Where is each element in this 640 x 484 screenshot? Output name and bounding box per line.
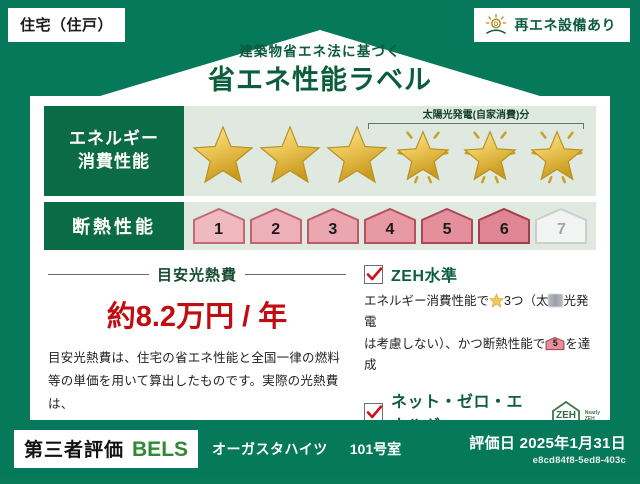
utility-cost-heading: 目安光熱費	[48, 264, 346, 285]
insulation-badge-7: 7	[533, 207, 589, 245]
zeh-section: ZEH水準 エネルギー消費性能で3つ（太光発電 は考慮しない）、かつ断熱性能で5…	[360, 256, 610, 420]
zeh-standard-text-b: 3つ（太	[504, 294, 548, 308]
energy-star-2	[259, 124, 321, 186]
star-icon	[489, 293, 504, 308]
utility-cost-heading-text: 目安光熱費	[157, 264, 237, 285]
insulation-badge-2-value: 2	[248, 207, 304, 245]
solar-bracket: 太陽光発電(自家消費)分	[362, 110, 590, 136]
insulation-badge-5: 5	[419, 207, 475, 245]
evaluation-info: 評価日 2025年1月31日 e8cd84f8-5ed8-403c	[469, 432, 626, 466]
zeh-standard-text-a: エネルギー消費性能で	[364, 294, 489, 308]
room-number: 101号室	[350, 439, 401, 459]
footer-bar: 第三者評価 BELS オーガスタハイツ 101号室 評価日 2025年1月31日…	[0, 420, 640, 478]
sun-icon: D	[484, 13, 508, 37]
renewable-equipment-label: 再エネ設備あり	[515, 15, 617, 35]
renewable-equipment-tag: D 再エネ設備あり	[474, 8, 631, 42]
energy-label-line1: エネルギー	[69, 128, 159, 151]
insulation-badges-area: 1 2 3 4 5	[184, 202, 596, 250]
zeh-standard-item: ZEH水準	[364, 262, 600, 286]
heading-rule-left	[48, 274, 149, 275]
solar-bracket-line	[368, 123, 584, 129]
zeh-standard-body: エネルギー消費性能で3つ（太光発電 は考慮しない）、かつ断熱性能で5を達成	[364, 291, 600, 376]
energy-performance-label: エネルギー 消費性能	[44, 106, 184, 196]
building-type-tag: 住宅（住戸）	[8, 8, 125, 42]
header-title: 省エネ性能ラベル	[0, 58, 640, 97]
insulation-badge-3: 3	[305, 207, 361, 245]
utility-cost-section: 目安光熱費 約8.2万円 / 年 目安光熱費は、住宅の省エネ性能と全国一律の燃料…	[30, 256, 360, 420]
evaluation-date: 評価日 2025年1月31日	[469, 432, 626, 453]
utility-cost-note-line1: 目安光熱費は、住宅の省エネ性能と全国一律の燃料	[48, 347, 346, 370]
header-subtitle: 建築物省エネ法に基づく	[0, 40, 640, 60]
insulation-badge-1: 1	[191, 207, 247, 245]
energy-label-line2: 消費性能	[78, 151, 150, 174]
utility-cost-note-line2: 等の単価を用いて算出したものです。実際の光熱費は、	[48, 370, 346, 416]
insulation-badge-6: 6	[476, 207, 532, 245]
energy-star-1	[192, 124, 254, 186]
svg-text:D: D	[493, 22, 498, 28]
insulation-badge-5-value: 5	[419, 207, 475, 245]
insulation-badge-2: 2	[248, 207, 304, 245]
label-body-card: エネルギー 消費性能 太陽光発電(自家消費)分	[30, 96, 610, 420]
lower-section: 目安光熱費 約8.2万円 / 年 目安光熱費は、住宅の省エネ性能と全国一律の燃料…	[30, 256, 610, 420]
energy-performance-row: エネルギー 消費性能 太陽光発電(自家消費)分	[44, 106, 596, 196]
inline-insulation-badge: 5	[545, 336, 565, 351]
bels-mark: BELS	[132, 438, 188, 462]
insulation-badge-4: 4	[362, 207, 418, 245]
check-icon	[364, 265, 383, 284]
bels-label: 第三者評価	[24, 435, 124, 462]
zeh-standard-title: ZEH水準	[391, 262, 458, 286]
evaluation-id: e8cd84f8-5ed8-403c	[469, 455, 626, 466]
heading-rule-right	[245, 274, 346, 275]
zeh-standard-text-d: は考慮しない）、かつ断熱性能で	[364, 337, 545, 351]
bels-badge: 第三者評価 BELS	[14, 430, 198, 468]
insulation-badge-6-value: 6	[476, 207, 532, 245]
inline-insulation-badge-value: 5	[545, 336, 565, 351]
redacted-text-block	[548, 294, 563, 307]
insulation-badge-4-value: 4	[362, 207, 418, 245]
utility-cost-value: 約8.2万円 / 年	[48, 293, 346, 335]
insulation-badge-1-value: 1	[191, 207, 247, 245]
insulation-performance-label: 断熱性能	[44, 202, 184, 250]
energy-label: 住宅（住戸） D 再エネ設備あり 建築物省エネ法に基づく 省エネ性能ラベル	[0, 0, 640, 478]
check-icon	[364, 403, 383, 422]
energy-stars-area: 太陽光発電(自家消費)分	[184, 106, 596, 196]
insulation-badge-3-value: 3	[305, 207, 361, 245]
insulation-performance-row: 断熱性能 1 2 3 4	[44, 202, 596, 250]
solar-bracket-label: 太陽光発電(自家消費)分	[362, 110, 590, 122]
insulation-badge-7-value: 7	[533, 207, 589, 245]
building-name: オーガスタハイツ	[212, 439, 328, 459]
